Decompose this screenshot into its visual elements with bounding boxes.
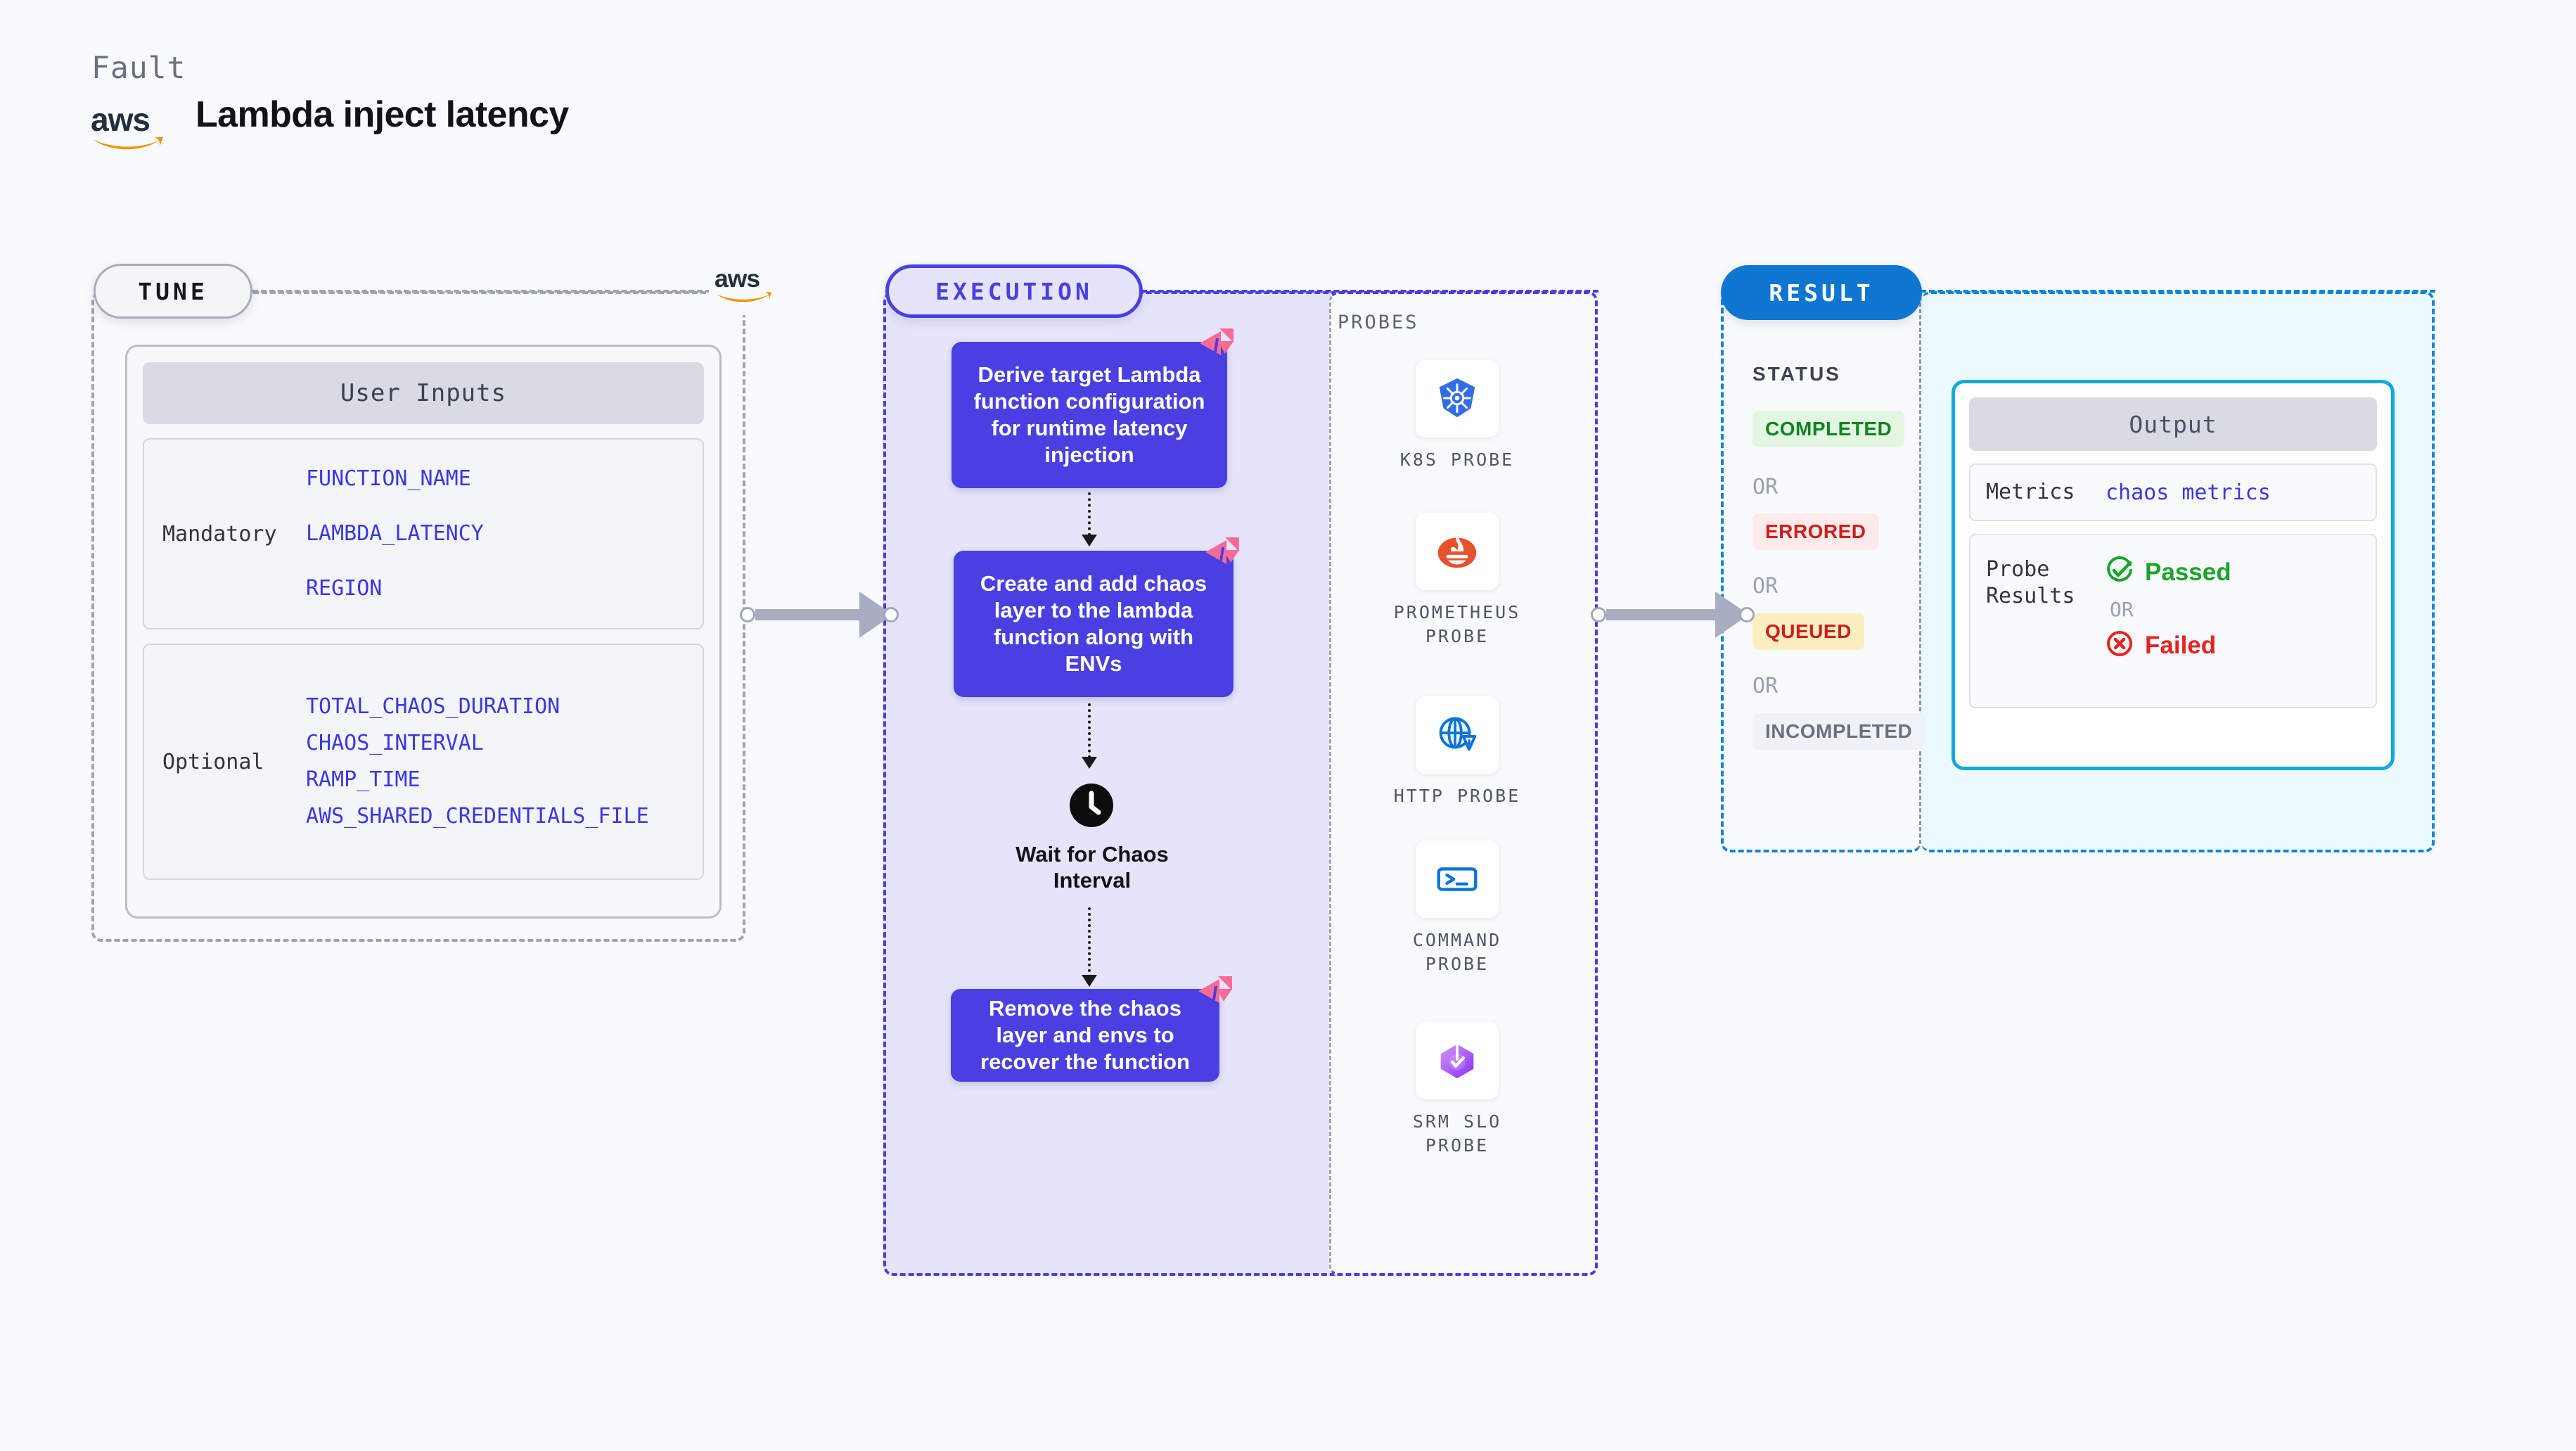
svg-text:aws: aws [715, 264, 760, 293]
flow-arrow-line [1088, 907, 1091, 978]
probe-results-values: Passed OR Failed [2106, 556, 2231, 661]
execution-step[interactable]: Create and add chaos layer to the lambda… [954, 551, 1233, 697]
or-separator: OR [2110, 598, 2231, 621]
probe-label: SRM SLO PROBE [1380, 1110, 1534, 1158]
status-badge: COMPLETED [1752, 411, 1904, 447]
probe-item-srm-slo[interactable]: SRM SLO PROBE [1380, 1022, 1534, 1158]
metrics-key: Metrics [1971, 479, 2106, 506]
execution-section-pill[interactable]: EXECUTION [885, 264, 1143, 318]
tune-section-pill[interactable]: TUNE [94, 264, 252, 319]
connector-end-dot [883, 607, 899, 622]
input-var[interactable]: REGION [306, 561, 703, 616]
wait-step-label: Wait for Chaos Interval [983, 841, 1201, 893]
connector-start-dot [740, 607, 755, 622]
output-probe-results-row: Probe Results Passed OR [1969, 534, 2377, 708]
probe-item-k8s[interactable]: K8S PROBE [1380, 360, 1534, 472]
flow-arrow-line [1088, 703, 1091, 758]
user-inputs-title: User Inputs [143, 362, 704, 424]
user-inputs-card: User Inputs Mandatory FUNCTION_NAME LAMB… [125, 345, 722, 919]
aws-logo-icon: aws [90, 98, 166, 153]
status-badge: ERRORED [1752, 513, 1879, 550]
probe-result-passed: Passed [2106, 556, 2231, 588]
execution-step[interactable]: Remove the chaos layer and envs to recov… [951, 989, 1219, 1082]
input-var[interactable]: TOTAL_CHAOS_DURATION [306, 689, 703, 725]
connector-end-dot [1739, 607, 1755, 622]
input-var[interactable]: LAMBDA_LATENCY [306, 506, 703, 561]
input-var[interactable]: CHAOS_INTERVAL [306, 725, 703, 762]
result-section-pill[interactable]: RESULT [1721, 265, 1922, 320]
clock-icon [1070, 784, 1113, 827]
litmus-logo-icon [1197, 326, 1236, 362]
prometheus-icon [1416, 513, 1499, 590]
status-badge: INCOMPLETED [1752, 713, 1925, 750]
litmus-logo-icon [1196, 973, 1235, 1010]
optional-inputs-group: Optional TOTAL_CHAOS_DURATION CHAOS_INTE… [143, 644, 704, 880]
probe-label: PROMETHEUS PROBE [1380, 601, 1534, 648]
tune-to-execution-connector [740, 592, 899, 638]
passed-label: Passed [2145, 558, 2231, 587]
kubernetes-icon [1416, 360, 1499, 437]
probe-label: HTTP PROBE [1380, 784, 1534, 808]
x-circle-icon [2106, 629, 2134, 661]
flow-arrow-head [1082, 535, 1097, 546]
mandatory-inputs-group: Mandatory FUNCTION_NAME LAMBDA_LATENCY R… [143, 438, 704, 629]
probe-label: K8S PROBE [1380, 448, 1534, 472]
probe-result-failed: Failed [2106, 629, 2231, 661]
litmus-logo-icon [1203, 535, 1242, 571]
result-top-connector-line [1921, 290, 2435, 293]
failed-label: Failed [2145, 632, 2216, 660]
connector-start-dot [1591, 607, 1606, 622]
page-kicker: Fault [91, 51, 186, 86]
http-globe-icon [1416, 696, 1499, 774]
output-card: Output Metrics chaos metrics Probe Resul… [1952, 380, 2395, 770]
terminal-icon [1416, 840, 1499, 918]
probe-results-key: Probe Results [1971, 556, 2106, 609]
page-title: Lambda inject latency [196, 94, 569, 136]
or-separator: OR [1752, 674, 1778, 698]
input-var[interactable]: RAMP_TIME [306, 762, 703, 798]
or-separator: OR [1752, 475, 1778, 499]
probe-label: COMMAND PROBE [1380, 928, 1534, 976]
status-title: STATUS [1752, 363, 1841, 385]
srm-slo-icon [1416, 1022, 1499, 1099]
svg-text:aws: aws [91, 101, 150, 138]
connector-bar [1606, 609, 1715, 620]
tune-top-connector-line [252, 290, 711, 293]
probe-item-http[interactable]: HTTP PROBE [1380, 696, 1534, 808]
flow-arrow-head [1082, 757, 1097, 769]
execution-step[interactable]: Derive target Lambda function configurat… [951, 342, 1227, 488]
probes-title: PROBES [1338, 312, 1419, 333]
input-var[interactable]: AWS_SHARED_CREDENTIALS_FILE [306, 798, 703, 835]
flow-arrow-head [1082, 975, 1097, 987]
tune-provider-aws-logo-icon: aws [709, 255, 779, 315]
or-separator: OR [1752, 574, 1778, 599]
optional-var-list: TOTAL_CHAOS_DURATION CHAOS_INTERVAL RAMP… [306, 689, 703, 835]
input-var[interactable]: FUNCTION_NAME [306, 452, 703, 506]
metrics-value[interactable]: chaos metrics [2106, 480, 2271, 505]
probe-item-command[interactable]: COMMAND PROBE [1380, 840, 1534, 976]
mandatory-var-list: FUNCTION_NAME LAMBDA_LATENCY REGION [306, 452, 703, 616]
mandatory-label: Mandatory [144, 522, 306, 546]
execution-to-result-connector [1591, 592, 1755, 638]
execution-top-connector-line [1141, 290, 1598, 293]
connector-bar [755, 609, 859, 620]
optional-label: Optional [144, 750, 306, 774]
output-metrics-row: Metrics chaos metrics [1969, 464, 2377, 521]
output-title: Output [1969, 397, 2377, 451]
probe-item-prometheus[interactable]: PROMETHEUS PROBE [1380, 513, 1534, 648]
flow-arrow-line [1088, 492, 1091, 536]
diagram-canvas: Fault aws Lambda inject latency TUNE aws… [0, 0, 2576, 1451]
check-circle-icon [2106, 556, 2134, 588]
status-badge: QUEUED [1752, 613, 1864, 650]
